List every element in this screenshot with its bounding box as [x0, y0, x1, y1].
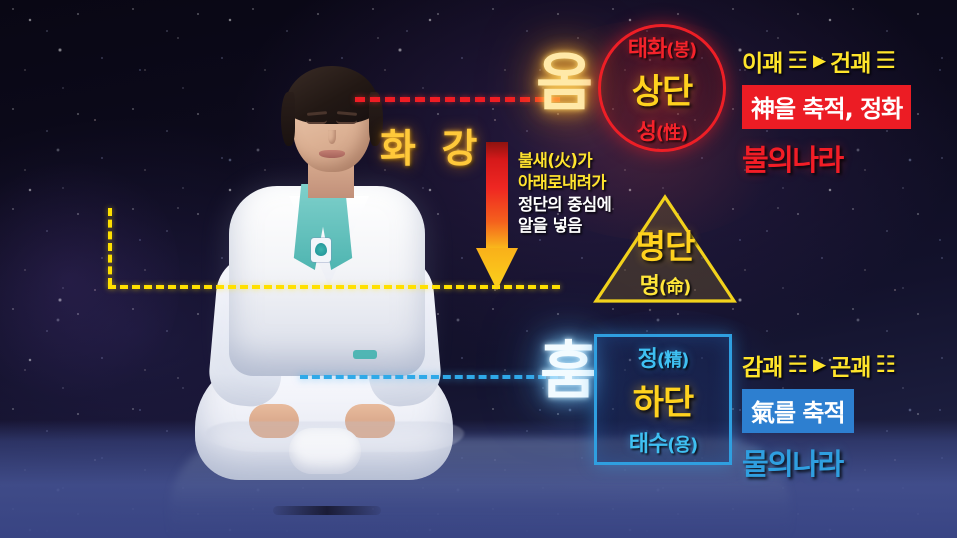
upper-dantian-top-text: 태화 — [628, 37, 666, 62]
fire-to-gua-label: 건괘 — [830, 44, 870, 78]
figure-foot — [289, 428, 361, 474]
figure-ground-shadow — [273, 506, 381, 515]
middle-dantian-bottom-label: 명(命) — [640, 268, 691, 300]
li-trigram-icon: ☲ — [787, 48, 808, 74]
fire-nation-chip: 神을 축적, 정화 — [742, 85, 911, 129]
hwagang-label: 화 강 — [380, 118, 483, 174]
figure-sleeve-emblem — [353, 350, 377, 359]
figure-chest-emblem — [311, 238, 331, 262]
lower-dantian-main-label: 하단 — [633, 375, 694, 424]
description-line-1: 불새(火)가 — [518, 150, 648, 172]
kan-trigram-icon: ☵ — [787, 352, 808, 378]
water-nation-annotation: 감괘☵ ▶ 곤괘☷ 氣를 축적 물의나라 — [742, 348, 896, 483]
connector-line-middle-vertical — [108, 208, 112, 286]
upper-dantian-top-label: 태화(봉) — [628, 31, 697, 63]
water-to-gua-label: 곤괘 — [830, 348, 870, 382]
figure-lips — [319, 150, 345, 158]
scene-root: 옴 훔 화 강 불새(火)가 아래로내려가 정단의 중심에 알을 넣음 태화(봉… — [0, 0, 957, 538]
arrow-head — [476, 248, 518, 290]
figure-eye-left-closed — [306, 120, 327, 124]
upper-dantian-main-label: 상단 — [632, 64, 693, 113]
fire-nation-label: 불의나라 — [742, 137, 911, 179]
water-trigram-transition: 감괘☵ ▶ 곤괘☷ — [742, 348, 896, 382]
fire-trigram-transition: 이괘☲ ▶ 건괘☰ — [742, 44, 911, 78]
fire-nation-annotation: 이괘☲ ▶ 건괘☰ 神을 축적, 정화 불의나라 — [742, 44, 911, 179]
upper-dantian-top-paren: (봉) — [666, 40, 696, 61]
middle-dantian-triangle[interactable]: 명단 명(命) — [592, 192, 738, 306]
upper-dantian-bottom-text: 성 — [637, 120, 656, 145]
seed-syllable-om: 옴 — [536, 52, 593, 114]
lower-dantian-bottom-paren: (용) — [667, 435, 697, 456]
middle-dantian-bottom-text: 명 — [640, 274, 659, 299]
figure-hand-left — [249, 404, 299, 438]
figure-eye-right-closed — [336, 120, 357, 124]
water-nation-chip: 氣를 축적 — [742, 389, 854, 433]
arrow-shaft — [486, 142, 508, 252]
connector-line-upper-dantian — [355, 97, 560, 102]
upper-dantian-circle[interactable]: 태화(봉) 상단 성(性) — [598, 24, 726, 152]
description-line-2: 아래로내려가 — [518, 172, 648, 194]
middle-dantian-main-label: 명단 — [636, 220, 695, 268]
lower-dantian-top-label: 정(精) — [638, 341, 689, 373]
water-arrow-icon: ▶ — [813, 357, 825, 374]
upper-dantian-bottom-paren: (性) — [656, 123, 687, 144]
fire-from-gua-label: 이괘 — [742, 44, 782, 78]
ambient-glow-left — [0, 150, 180, 410]
middle-dantian-bottom-paren: (命) — [659, 277, 690, 298]
figure-nose — [328, 130, 336, 144]
lower-dantian-top-text: 정 — [638, 347, 657, 372]
qian-trigram-icon: ☰ — [875, 48, 896, 74]
lower-dantian-top-paren: (精) — [657, 350, 688, 371]
lower-dantian-square[interactable]: 정(精) 하단 태수(용) — [594, 334, 732, 465]
seed-syllable-hum: 훔 — [540, 340, 597, 402]
upper-dantian-bottom-label: 성(性) — [637, 114, 688, 146]
kun-trigram-icon: ☷ — [875, 352, 896, 378]
water-nation-label: 물의나라 — [742, 441, 896, 483]
connector-line-lower-dantian — [300, 375, 558, 379]
figure-hair — [285, 66, 379, 124]
fire-arrow-icon: ▶ — [813, 53, 825, 70]
water-from-gua-label: 감괘 — [742, 348, 782, 382]
lower-dantian-bottom-text: 태수 — [629, 432, 667, 457]
lower-dantian-bottom-label: 태수(용) — [629, 426, 698, 458]
